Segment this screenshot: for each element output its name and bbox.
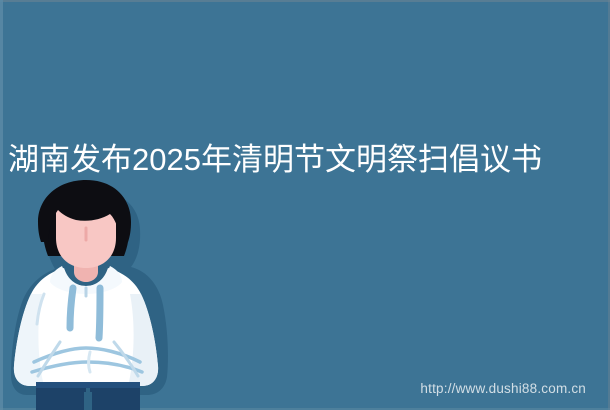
left-drawstring xyxy=(70,288,73,328)
pants-waist xyxy=(36,382,140,388)
thumbnail-card: 湖南发布2025年清明节文明祭扫倡议书 xyxy=(0,0,610,410)
right-drawstring xyxy=(99,288,100,338)
card-top-edge xyxy=(0,0,610,2)
source-watermark: http://www.dushi88.com.cn xyxy=(420,381,586,397)
hem-curl xyxy=(89,352,91,372)
pants-gap xyxy=(84,392,92,410)
person-illustration xyxy=(0,176,200,410)
